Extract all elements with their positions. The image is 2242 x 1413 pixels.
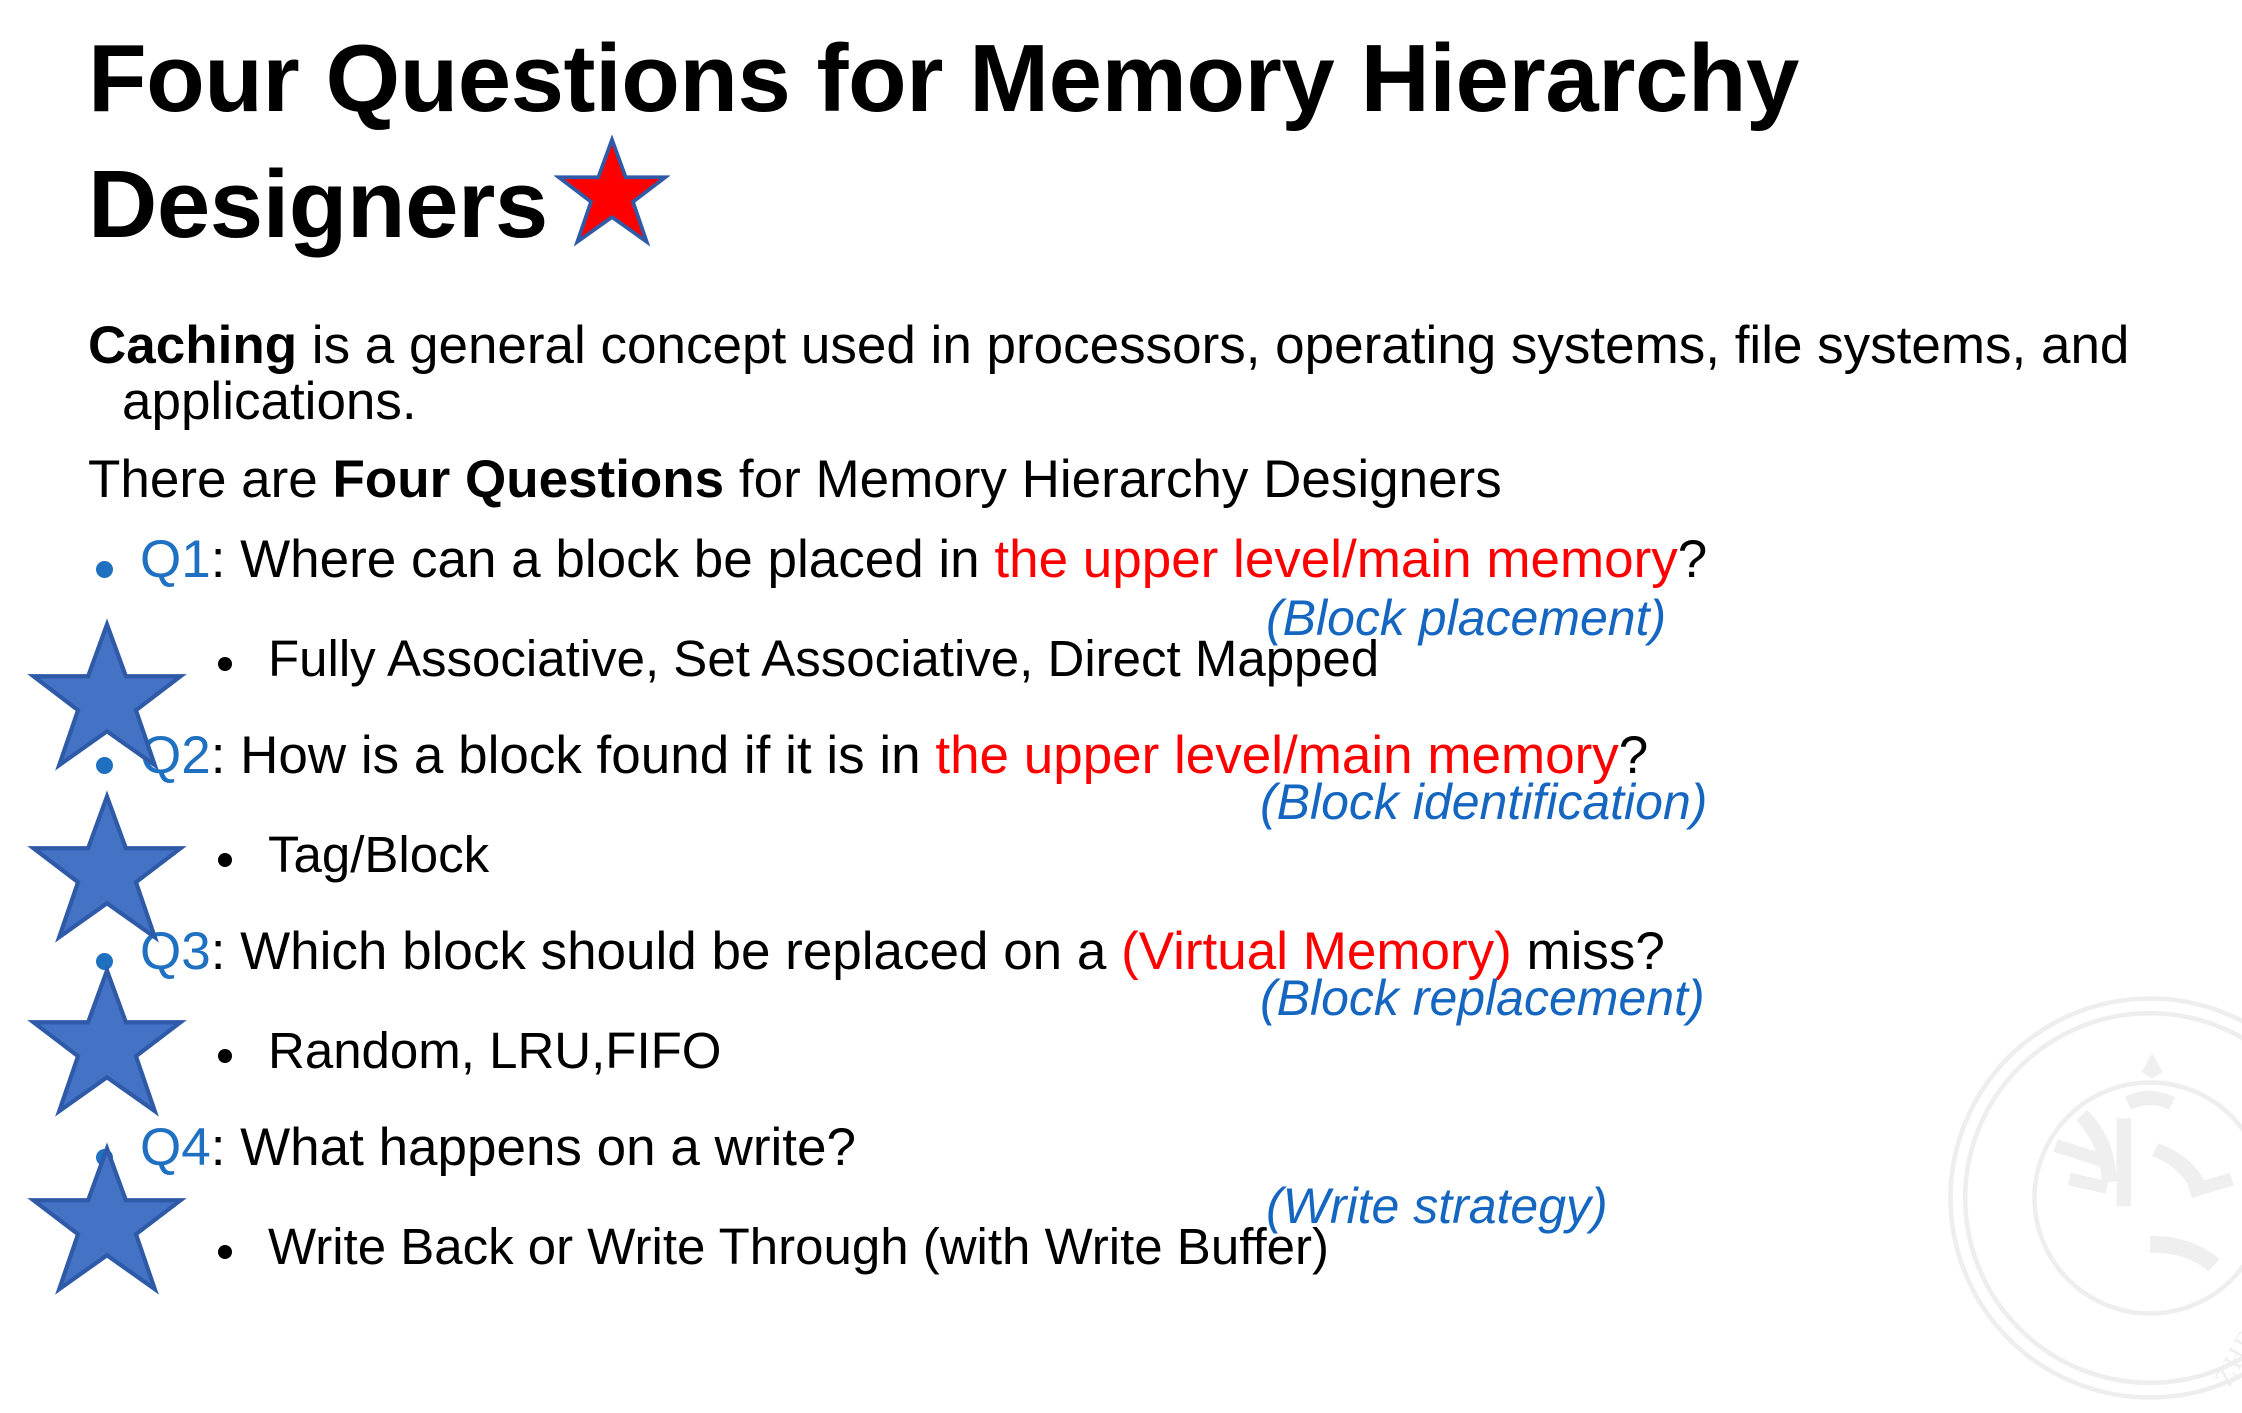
four-questions-keyword: Four Questions: [333, 450, 725, 509]
caching-sentence-continued: applications.: [122, 374, 2148, 430]
question-q1-pre: : Where can a block be placed in: [211, 530, 995, 589]
question-text-q1: Q1: Where can a block be placed in the u…: [140, 533, 1707, 586]
annotation-block-replacement: (Block replacement): [1260, 973, 1705, 1023]
annotation-block-identification: (Block identification): [1260, 777, 1707, 827]
question-row-q3: Q3: Which block should be replaced on a …: [88, 925, 2148, 1003]
blue-dot-bullet-icon: [96, 953, 113, 970]
sub-bullet-row-q2: Tag/Block: [88, 829, 2148, 901]
question-q3-pre: : Which block should be replaced on a: [211, 922, 1121, 981]
question-label-q4: Q4: [140, 1118, 211, 1177]
red-star-icon: [554, 135, 670, 251]
black-dot-bullet-icon: [218, 657, 232, 671]
question-q4-pre: : What happens on a write?: [211, 1118, 856, 1177]
page-title: Four Questions for Memory Hierarchy Desi…: [88, 22, 2048, 262]
blue-dot-bullet-icon: [96, 757, 113, 774]
question-row-q2: Q2: How is a block found if it is in the…: [88, 729, 2148, 807]
caching-keyword: Caching: [88, 316, 297, 375]
black-dot-bullet-icon: [218, 1245, 232, 1259]
watermark-text: ZHEJIANG: [2209, 1245, 2242, 1390]
question-label-q2: Q2: [140, 726, 211, 785]
page-title-line-2: Designers: [88, 151, 548, 258]
black-dot-bullet-icon: [218, 853, 232, 867]
question-label-q3: Q3: [140, 922, 211, 981]
question-label-q1: Q1: [140, 530, 211, 589]
page-title-line-1: Four Questions for Memory Hierarchy: [88, 25, 1799, 132]
blue-dot-bullet-icon: [96, 561, 113, 578]
sub-bullet-row-q3: Random, LRU,FIFO: [88, 1025, 2148, 1097]
sub-bullet-text-q2: Tag/Block: [268, 829, 489, 880]
question-row-q4: Q4: What happens on a write? (Write stra…: [88, 1121, 2148, 1199]
sub-bullet-row-q4: Write Back or Write Through (with Write …: [88, 1221, 2148, 1293]
paragraph-caching: Caching is a general concept used in pro…: [88, 318, 2148, 430]
sub-bullet-text-q4: Write Back or Write Through (with Write …: [268, 1221, 1329, 1272]
question-q2-pre: : How is a block found if it is in: [211, 726, 936, 785]
sub-bullet-text-q1: Fully Associative, Set Associative, Dire…: [268, 633, 1379, 684]
caching-sentence: is a general concept used in processors,…: [297, 316, 2129, 375]
question-q1-post: ?: [1678, 530, 1707, 589]
question-row-q1: Q1: Where can a block be placed in the u…: [88, 533, 2148, 611]
there-are-suffix: for Memory Hierarchy Designers: [724, 450, 1502, 509]
question-q1-highlight: the upper level/main memory: [994, 530, 1677, 589]
slide-body: Caching is a general concept used in pro…: [88, 318, 2148, 1293]
question-text-q4: Q4: What happens on a write?: [140, 1121, 856, 1174]
blue-dot-bullet-icon: [96, 1149, 113, 1166]
there-are-prefix: There are: [88, 450, 333, 509]
sub-bullet-row-q1: Fully Associative, Set Associative, Dire…: [88, 633, 2148, 705]
black-dot-bullet-icon: [218, 1049, 232, 1063]
sub-bullet-text-q3: Random, LRU,FIFO: [268, 1025, 721, 1076]
paragraph-four-questions-intro: There are Four Questions for Memory Hier…: [88, 452, 2148, 508]
